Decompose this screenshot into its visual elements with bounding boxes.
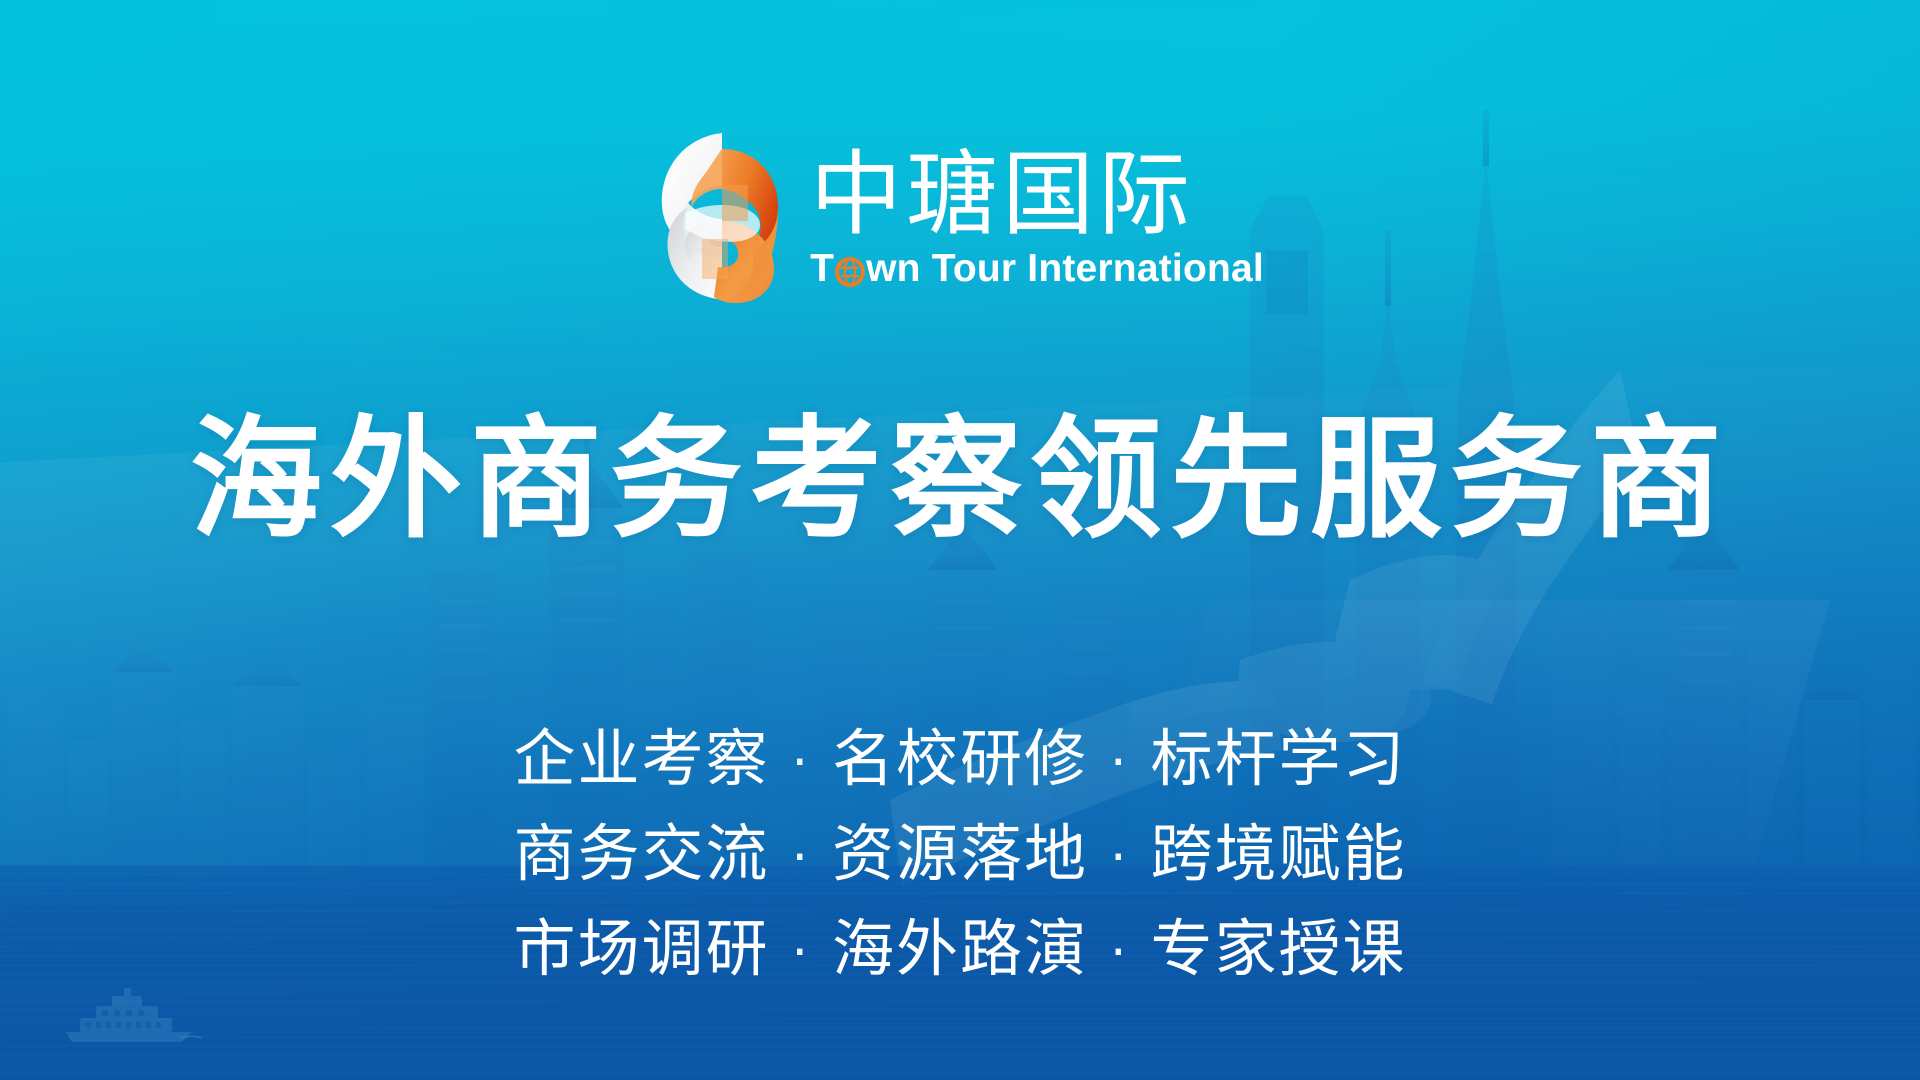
- service-separator: ·: [1088, 925, 1151, 981]
- banner-content: 中瑭国际 T wn Tour International 海外商: [0, 0, 1920, 1080]
- service-list: 企业考察 · 名校研修 · 标杆学习 商务交流 · 资源落地 · 跨境赋能 市场…: [513, 726, 1406, 983]
- service-separator: ·: [769, 830, 832, 886]
- service-item: 市场调研: [513, 916, 769, 983]
- service-separator: ·: [1088, 735, 1151, 791]
- service-item: 名校研修: [832, 726, 1088, 793]
- service-item: 商务交流: [513, 821, 769, 888]
- globe-o-icon: [835, 257, 865, 287]
- service-item: 跨境赋能: [1151, 821, 1407, 888]
- service-item: 标杆学习: [1151, 726, 1407, 793]
- service-item: 专家授课: [1151, 916, 1407, 983]
- service-item: 企业考察: [513, 726, 769, 793]
- service-separator: ·: [769, 925, 832, 981]
- brand-name-en-row: T wn Tour International: [810, 249, 1264, 288]
- service-line: 企业考察 · 名校研修 · 标杆学习: [513, 726, 1406, 793]
- promo-banner: 中瑭国际 T wn Tour International 海外商: [0, 0, 1920, 1080]
- brand-wordmark: 中瑭国际 T wn Tour International: [810, 125, 1264, 307]
- service-separator: ·: [769, 735, 832, 791]
- brand-name-en-before: T: [810, 249, 834, 288]
- service-item: 海外路演: [832, 916, 1088, 983]
- brand-name-en-after: wn Tour International: [866, 249, 1264, 288]
- brand-name-cn: 中瑭国际: [810, 149, 1264, 241]
- town-tour-sphere-mark-icon: [656, 127, 784, 305]
- service-line: 商务交流 · 资源落地 · 跨境赋能: [513, 821, 1406, 888]
- service-line: 市场调研 · 海外路演 · 专家授课: [513, 916, 1406, 983]
- service-item: 资源落地: [832, 821, 1088, 888]
- page-title: 海外商务考察领先服务商: [190, 414, 1730, 546]
- brand-logo-lockup: 中瑭国际 T wn Tour International: [656, 126, 1264, 306]
- service-separator: ·: [1088, 830, 1151, 886]
